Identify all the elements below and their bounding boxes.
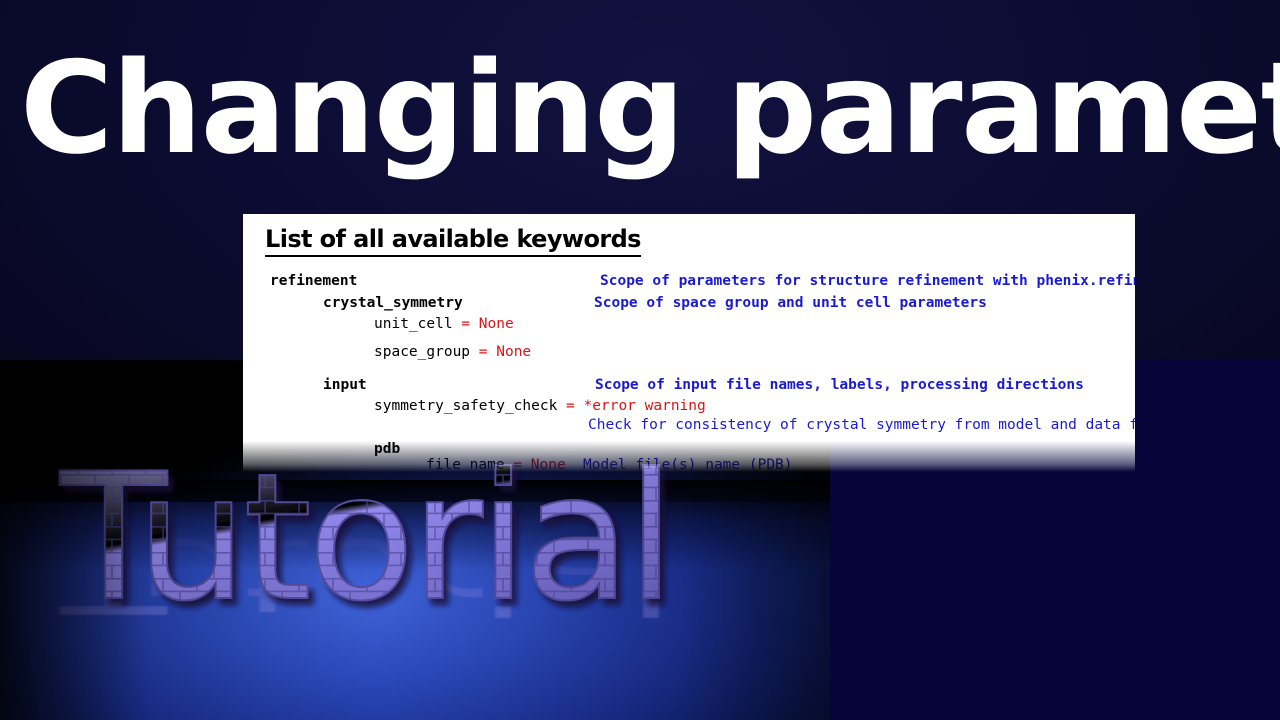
param-value: None xyxy=(496,344,531,360)
param-value: *error warning xyxy=(584,398,706,414)
param-key: unit_cell xyxy=(374,316,453,332)
param-scope-name: refinement xyxy=(270,273,357,289)
param-scope-name: pdb xyxy=(374,441,400,457)
param-line-input: input xyxy=(323,377,367,393)
param-value: None xyxy=(479,316,514,332)
svg-text:Tutorial: Tutorial xyxy=(59,448,671,638)
slide-root: Changing parameters Tutorial xyxy=(0,0,1280,720)
param-value: None xyxy=(531,457,566,473)
param-key: file_name xyxy=(426,457,505,473)
param-key: symmetry_safety_check xyxy=(374,398,557,414)
param-line-pdb: pdb xyxy=(374,441,400,457)
param-equals: = xyxy=(557,398,583,414)
param-description-crystal_symmetry: Scope of space group and unit cell param… xyxy=(594,295,987,311)
param-description-refinement: Scope of parameters for structure refine… xyxy=(600,273,1150,289)
param-line-file_name: file_name = None xyxy=(426,457,566,473)
param-line-symmetry_safety_check: symmetry_safety_check = *error warning xyxy=(374,398,706,414)
param-equals: = xyxy=(470,344,496,360)
param-scope-name: input xyxy=(323,377,367,393)
param-line-space_group: space_group = None xyxy=(374,344,531,360)
param-line-refinement: refinement xyxy=(270,273,357,289)
parameter-listing: refinementScope of parameters for struct… xyxy=(243,214,1135,472)
param-equals: = xyxy=(453,316,479,332)
param-scope-name: crystal_symmetry xyxy=(323,295,463,311)
slide-title: Changing parameters xyxy=(20,33,1268,183)
keyword-panel: List of all available keywords refinemen… xyxy=(243,214,1135,472)
param-description-symmetry_safety_check_desc: Check for consistency of crystal symmetr… xyxy=(588,417,1173,433)
param-description-file_name: Model file(s) name (PDB) xyxy=(583,457,793,473)
param-description-input: Scope of input file names, labels, proce… xyxy=(595,377,1084,393)
param-line-unit_cell: unit_cell = None xyxy=(374,316,514,332)
param-equals: = xyxy=(505,457,531,473)
param-line-crystal_symmetry: crystal_symmetry xyxy=(323,295,463,311)
param-key: space_group xyxy=(374,344,470,360)
tutorial-word: Tutorial Tutorial Tutorial xyxy=(52,448,752,638)
